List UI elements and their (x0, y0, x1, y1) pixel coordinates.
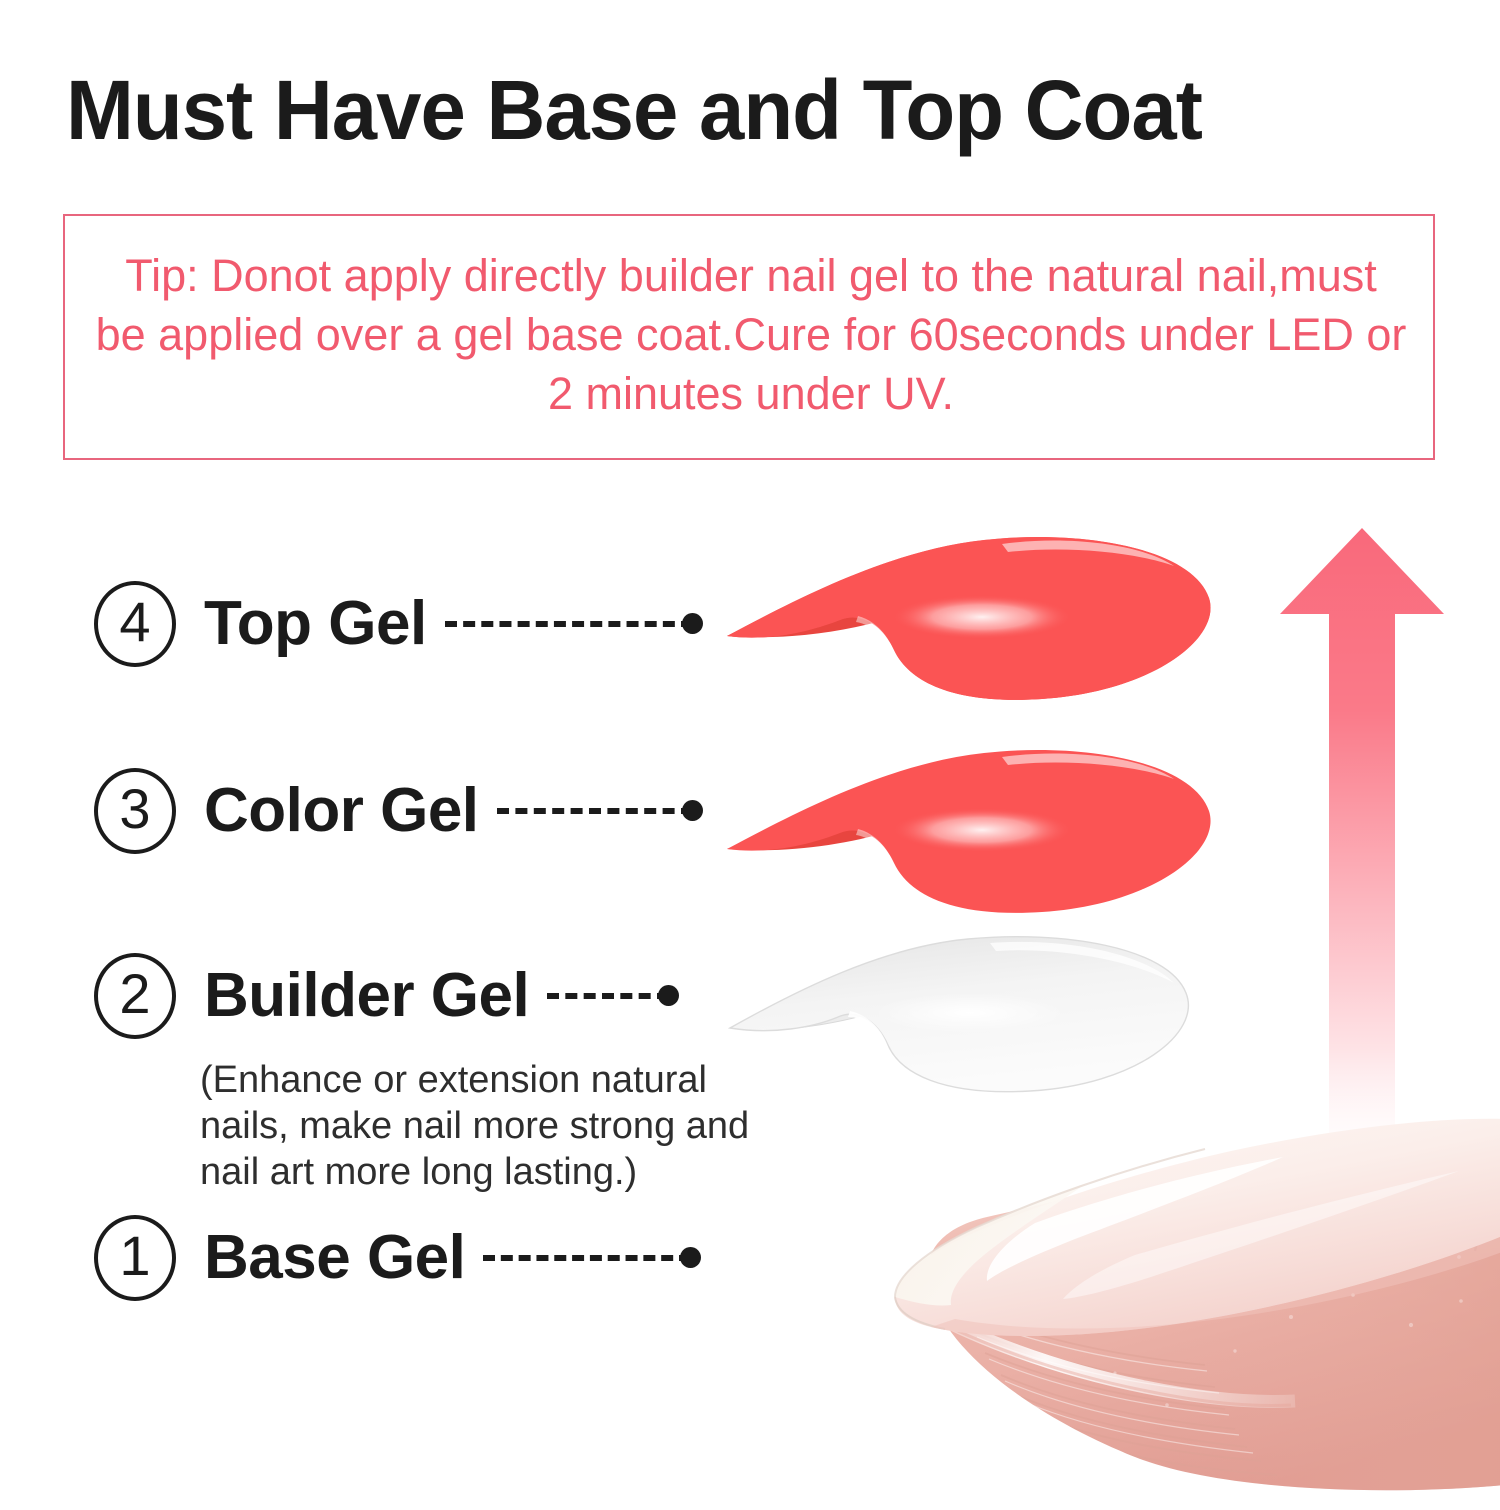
color-gel-swatch-icon (722, 733, 1222, 928)
layer-row-top-gel: 4 Top Gel (94, 578, 693, 670)
leader-dashes (547, 993, 669, 999)
upward-progress-arrow-icon (1276, 520, 1448, 1180)
leader-dashes (445, 621, 693, 627)
layer-number-2: 2 (119, 966, 150, 1022)
page-title: Must Have Base and Top Coat (66, 62, 1405, 158)
top-gel-swatch-icon (722, 520, 1222, 715)
leader-line-color-gel (497, 808, 693, 814)
layer-row-base-gel: 1 Base Gel (94, 1212, 691, 1304)
builder-gel-swatch-icon (700, 925, 1220, 1105)
tip-text: Tip: Donot apply directly builder nail g… (95, 246, 1407, 423)
layer-label-base-gel: Base Gel (204, 1227, 465, 1289)
layer-number-badge-3: 3 (94, 768, 176, 854)
layer-number-badge-4: 4 (94, 581, 176, 667)
leader-dot (680, 1247, 701, 1268)
leader-line-top-gel (445, 621, 693, 627)
leader-dashes (483, 1255, 691, 1261)
layer-label-color-gel: Color Gel (204, 780, 479, 842)
leader-dashes (497, 808, 693, 814)
layer-number-badge-2: 2 (94, 953, 176, 1039)
layer-number-1: 1 (119, 1228, 150, 1284)
leader-line-builder-gel (547, 993, 669, 999)
leader-dot (682, 800, 703, 821)
fingertip-with-natural-nail-photo (735, 1105, 1500, 1505)
tip-box: Tip: Donot apply directly builder nail g… (63, 214, 1435, 460)
leader-dot (682, 613, 703, 634)
layer-row-builder-gel: 2 Builder Gel (94, 950, 669, 1042)
leader-line-base-gel (483, 1255, 691, 1261)
layer-number-3: 3 (119, 781, 150, 837)
layer-number-4: 4 (119, 594, 150, 650)
leader-dot (658, 985, 679, 1006)
layer-number-badge-1: 1 (94, 1215, 176, 1301)
layer-label-builder-gel: Builder Gel (204, 965, 529, 1027)
layer-label-top-gel: Top Gel (204, 593, 427, 655)
layer-row-color-gel: 3 Color Gel (94, 765, 693, 857)
